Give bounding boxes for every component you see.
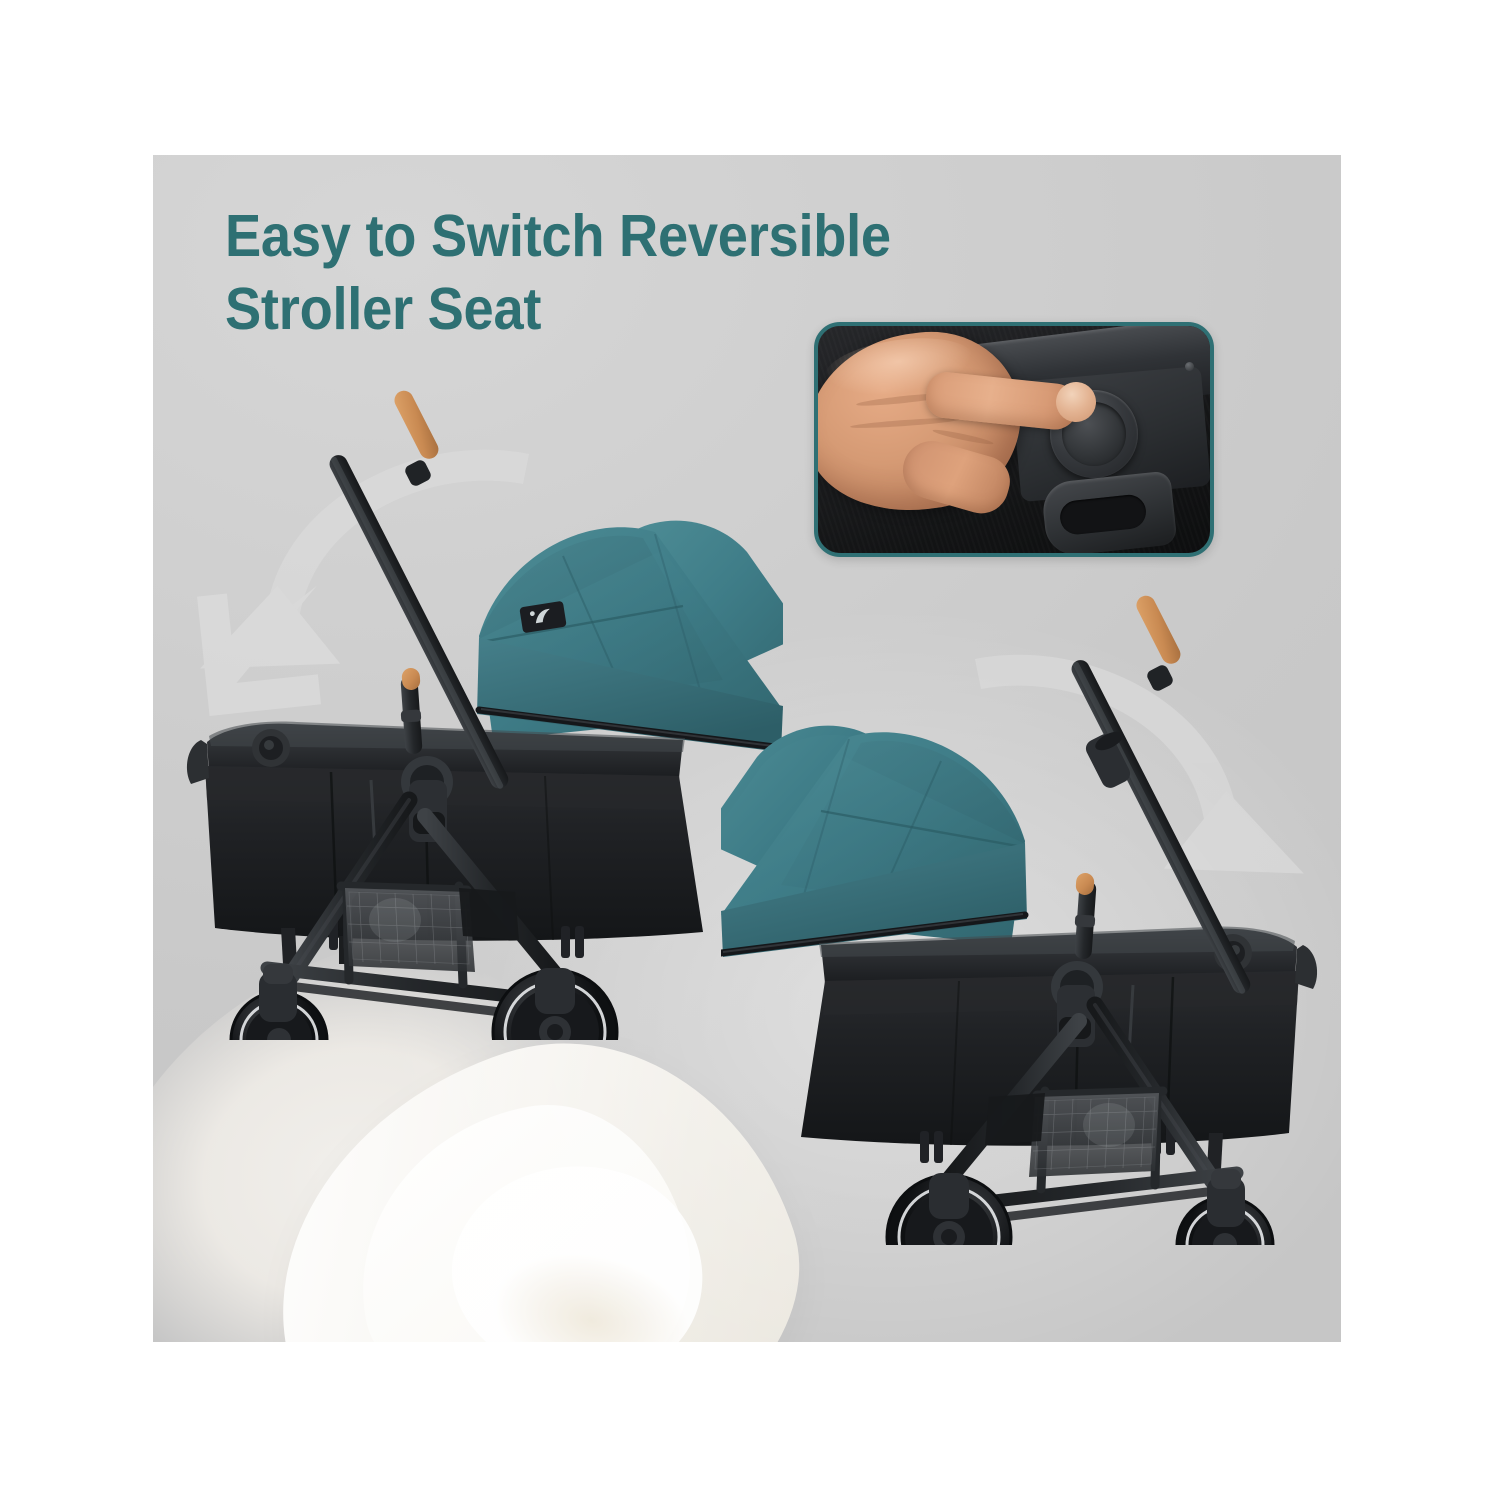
storage-basket — [345, 888, 519, 972]
release-button-closeup-card — [814, 322, 1214, 557]
handle-grip — [1133, 592, 1184, 667]
stroller-right-illustration — [721, 585, 1341, 1245]
stroller-parent-facing — [163, 380, 783, 1040]
hand-pressing-button — [818, 330, 1106, 553]
recline-pivot-disc — [252, 729, 290, 767]
content-panel: Easy to Switch Reversible Stroller Seat — [153, 155, 1341, 1342]
storage-basket — [985, 1093, 1159, 1177]
stroller-forward-facing — [721, 585, 1341, 1245]
page-title: Easy to Switch Reversible Stroller Seat — [225, 200, 925, 346]
product-feature-image: Easy to Switch Reversible Stroller Seat — [0, 0, 1500, 1500]
handle-grip — [391, 387, 442, 462]
frame-screw-icon — [1185, 362, 1194, 371]
headline-line-1: Easy to Switch Reversible — [225, 200, 869, 273]
paper-curl-decoration-c — [334, 1084, 711, 1342]
stroller-left-illustration — [163, 380, 783, 1040]
closeup-photo — [818, 326, 1210, 553]
canopy-teal — [721, 726, 1027, 957]
headline-line-2: Stroller Seat — [225, 273, 869, 346]
paper-curl-decoration-d — [431, 1138, 726, 1342]
